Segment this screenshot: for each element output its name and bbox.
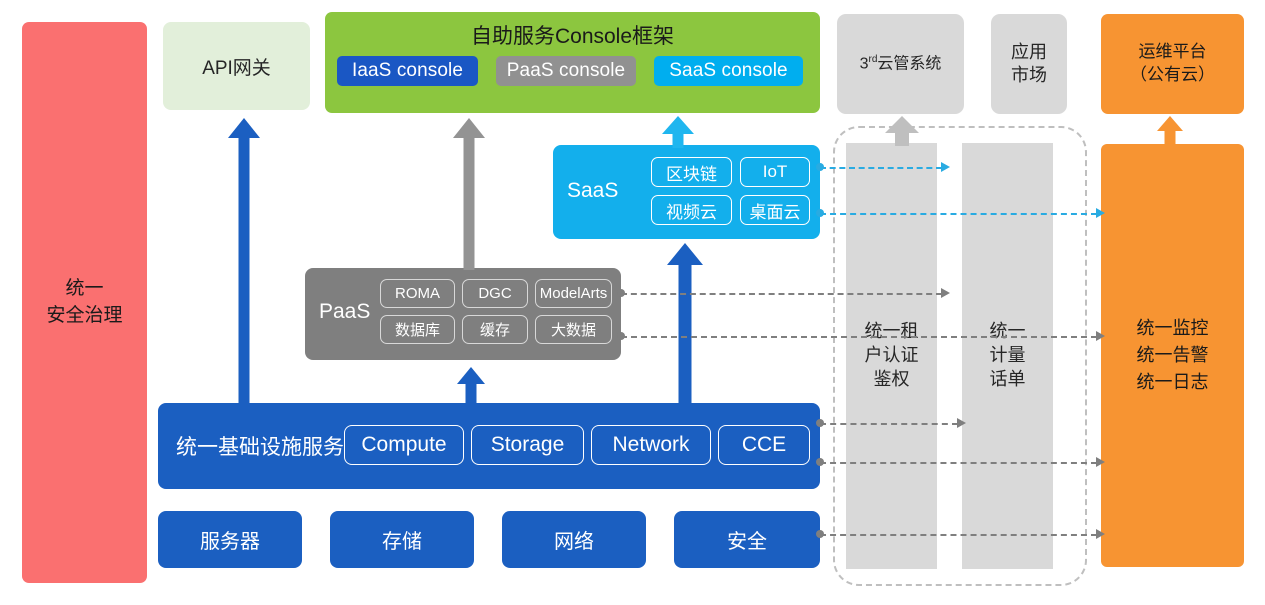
ops-platform-header-box: 运维平台 （公有云） (1101, 14, 1244, 114)
billing-line3: 话单 (990, 368, 1026, 392)
paas-console-label: PaaS console (507, 60, 625, 82)
infra-tag-cce-label: CCE (742, 433, 786, 457)
governance-label-line2: 安全治理 (46, 303, 122, 329)
unified-metering-billing-column: 统一 计量 话单 (962, 143, 1053, 569)
paas-tag-bigdata-label: 大数据 (551, 319, 596, 340)
connector-saas-to-auth (820, 167, 942, 169)
saas-tag-video-cloud-label: 视频云 (666, 198, 717, 223)
auth-line2: 户认证 (865, 344, 919, 368)
resource-box-server[interactable]: 服务器 (158, 511, 302, 568)
arrow-saas-to-console (662, 116, 694, 148)
api-gateway-label: API网关 (202, 53, 271, 80)
ops-platform-line1: 运维平台 (1130, 41, 1215, 64)
self-service-console-frame: 自助服务Console框架 IaaS console PaaS console … (325, 12, 820, 113)
connector-saas-to-ops (820, 213, 1097, 215)
infra-tag-compute-label: Compute (361, 433, 446, 457)
saas-tag-iot-label: IoT (763, 162, 788, 182)
paas-tag-modelarts[interactable]: ModelArts (535, 279, 612, 308)
saas-console-chip[interactable]: SaaS console (654, 56, 803, 86)
arrowhead-paas-to-ops (1096, 331, 1105, 341)
billing-line2: 计量 (990, 344, 1026, 368)
arrowhead-infra-to-billing (957, 418, 966, 428)
console-frame-title: 自助服务Console框架 (325, 20, 820, 50)
paas-tag-cache-label: 缓存 (480, 319, 510, 340)
arrowhead-infra-to-ops (1096, 457, 1105, 467)
governance-label-line1: 统一 (46, 276, 122, 302)
infra-tag-compute[interactable]: Compute (344, 425, 464, 465)
ops-alarm-label: 统一告警 (1137, 342, 1209, 369)
connector-paas-to-ops (621, 336, 1097, 338)
paas-tag-dgc[interactable]: DGC (462, 279, 528, 308)
saas-tag-video-cloud[interactable]: 视频云 (651, 195, 732, 225)
connector-paas-to-auth (621, 293, 942, 295)
iaas-console-chip[interactable]: IaaS console (337, 56, 478, 86)
third-party-label: 3rd云管系统 (860, 53, 942, 75)
unified-security-governance-panel: 统一 安全治理 (22, 22, 147, 583)
arrow-paas-to-console (453, 118, 485, 270)
connector-infra-to-billing (820, 423, 958, 425)
arrowhead-resources-to-ops (1096, 529, 1105, 539)
resource-server-label: 服务器 (200, 525, 260, 554)
arrowhead-saas-to-ops (1096, 208, 1105, 218)
resource-security-label: 安全 (727, 525, 767, 554)
infrastructure-label: 统一基础设施服务 (176, 431, 344, 461)
infra-tag-network-label: Network (612, 433, 689, 457)
arrowhead-paas-to-auth (941, 288, 950, 298)
application-market-box: 应用 市场 (991, 14, 1067, 114)
architecture-diagram: 统一 安全治理 API网关 自助服务Console框架 IaaS console… (0, 0, 1265, 605)
arrow-infra-to-saas (667, 243, 703, 404)
iaas-console-label: IaaS console (352, 60, 463, 82)
saas-tag-desktop-cloud-label: 桌面云 (750, 198, 801, 223)
ops-log-label: 统一日志 (1137, 369, 1209, 396)
paas-tag-bigdata[interactable]: 大数据 (535, 315, 612, 344)
arrow-ops-body-to-ops-head (1157, 116, 1183, 146)
third-party-suffix: 云管系统 (877, 55, 941, 72)
saas-tag-blockchain[interactable]: 区块链 (651, 157, 732, 187)
saas-tag-desktop-cloud[interactable]: 桌面云 (740, 195, 810, 225)
paas-tag-database-label: 数据库 (395, 319, 440, 340)
saas-tag-iot[interactable]: IoT (740, 157, 810, 187)
paas-tag-cache[interactable]: 缓存 (462, 315, 528, 344)
saas-console-label: SaaS console (669, 60, 787, 82)
resource-box-storage[interactable]: 存储 (330, 511, 474, 568)
resource-storage-label: 存储 (382, 525, 422, 554)
paas-layer-box: PaaS ROMA DGC ModelArts 数据库 缓存 大数据 (305, 268, 621, 360)
billing-line1: 统一 (990, 320, 1026, 344)
connector-infra-to-ops (820, 462, 1097, 464)
unified-infrastructure-service-bar: 统一基础设施服务 Compute Storage Network CCE (158, 403, 820, 489)
infra-tag-cce[interactable]: CCE (718, 425, 810, 465)
arrow-infra-to-paas (455, 367, 487, 405)
auth-line1: 统一租 (865, 320, 919, 344)
resource-network-label: 网络 (554, 525, 594, 554)
unified-tenant-auth-column: 统一租 户认证 鉴权 (846, 143, 937, 569)
auth-line3: 鉴权 (865, 368, 919, 392)
arrow-infra-to-api-gateway (228, 118, 260, 404)
ops-platform-body-panel: 统一监控 统一告警 统一日志 (1101, 144, 1244, 567)
arrowhead-saas-to-auth (941, 162, 950, 172)
saas-tag-blockchain-label: 区块链 (666, 160, 717, 185)
ops-platform-line2: （公有云） (1130, 64, 1215, 87)
paas-tag-roma-label: ROMA (395, 285, 440, 302)
arrow-shared-to-third-party (884, 116, 920, 146)
ops-monitor-label: 统一监控 (1137, 315, 1209, 342)
connector-resources-to-ops (820, 534, 1097, 536)
app-market-line1: 应用 (1011, 41, 1047, 64)
paas-layer-label: PaaS (319, 300, 370, 324)
paas-tag-dgc-label: DGC (478, 285, 511, 302)
api-gateway-box: API网关 (163, 22, 310, 110)
saas-layer-box: SaaS 区块链 IoT 视频云 桌面云 (553, 145, 820, 239)
saas-layer-label: SaaS (567, 179, 618, 203)
third-party-cloud-management-box: 3rd云管系统 (837, 14, 964, 114)
resource-box-security[interactable]: 安全 (674, 511, 820, 568)
paas-tag-database[interactable]: 数据库 (380, 315, 455, 344)
resource-box-network[interactable]: 网络 (502, 511, 646, 568)
infra-tag-network[interactable]: Network (591, 425, 711, 465)
infra-tag-storage[interactable]: Storage (471, 425, 584, 465)
paas-tag-roma[interactable]: ROMA (380, 279, 455, 308)
infra-tag-storage-label: Storage (491, 433, 565, 457)
paas-console-chip[interactable]: PaaS console (496, 56, 636, 86)
app-market-line2: 市场 (1011, 64, 1047, 87)
paas-tag-modelarts-label: ModelArts (540, 285, 608, 302)
